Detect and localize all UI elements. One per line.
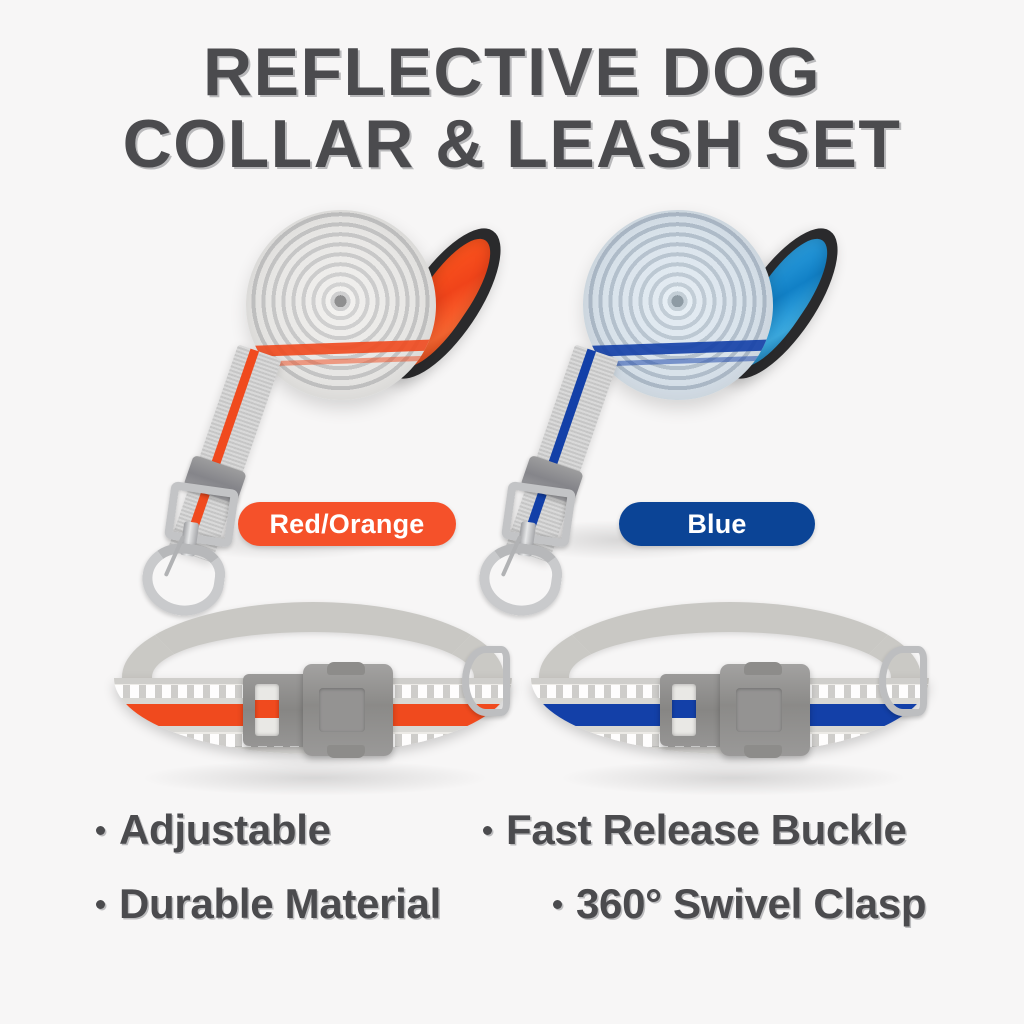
bullet-icon: [96, 900, 105, 909]
title-line-1: REFLECTIVE DOG: [0, 36, 1024, 108]
collar-red-orange: [108, 598, 518, 788]
buckle-release-tab-bottom: [327, 745, 365, 758]
variant-badge-blue[interactable]: Blue: [619, 502, 815, 546]
feature-item-adjustable: Adjustable: [96, 806, 331, 854]
buckle-release-tab-bottom: [744, 745, 782, 758]
feature-label: 360° Swivel Clasp: [576, 880, 926, 928]
feature-list: Adjustable Fast Release Buckle Durable M…: [0, 806, 1024, 966]
feature-label: Fast Release Buckle: [506, 806, 907, 854]
clasp-swivel-frame: [164, 481, 239, 548]
clasp-swivel-frame: [501, 481, 576, 548]
feature-item-durable-material: Durable Material: [96, 880, 441, 928]
feature-label: Adjustable: [119, 806, 331, 854]
buckle-female-housing: [720, 664, 810, 756]
d-ring: [462, 646, 510, 716]
buckle-release-tab-top: [744, 662, 782, 675]
feature-item-fast-release-buckle: Fast Release Buckle: [483, 806, 907, 854]
quick-release-buckle: [243, 662, 393, 758]
buckle-webbing-slot: [255, 684, 279, 736]
variant-badge-red-orange[interactable]: Red/Orange: [238, 502, 456, 546]
product-infographic: REFLECTIVE DOG COLLAR & LEASH SET: [0, 0, 1024, 1024]
bullet-icon: [553, 900, 562, 909]
bullet-icon: [96, 826, 105, 835]
page-title: REFLECTIVE DOG COLLAR & LEASH SET: [0, 36, 1024, 180]
feature-item-swivel-clasp: 360° Swivel Clasp: [553, 880, 926, 928]
collar-blue: [525, 598, 935, 788]
feature-label: Durable Material: [119, 880, 441, 928]
swivel-clasp: [135, 478, 245, 600]
buckle-male-end: [660, 674, 724, 746]
buckle-female-housing: [303, 664, 393, 756]
d-ring: [879, 646, 927, 716]
quick-release-buckle: [660, 662, 810, 758]
bullet-icon: [483, 826, 492, 835]
swivel-clasp: [472, 478, 582, 600]
buckle-webbing-slot: [672, 684, 696, 736]
buckle-male-end: [243, 674, 307, 746]
buckle-release-tab-top: [327, 662, 365, 675]
title-line-2: COLLAR & LEASH SET: [0, 108, 1024, 180]
